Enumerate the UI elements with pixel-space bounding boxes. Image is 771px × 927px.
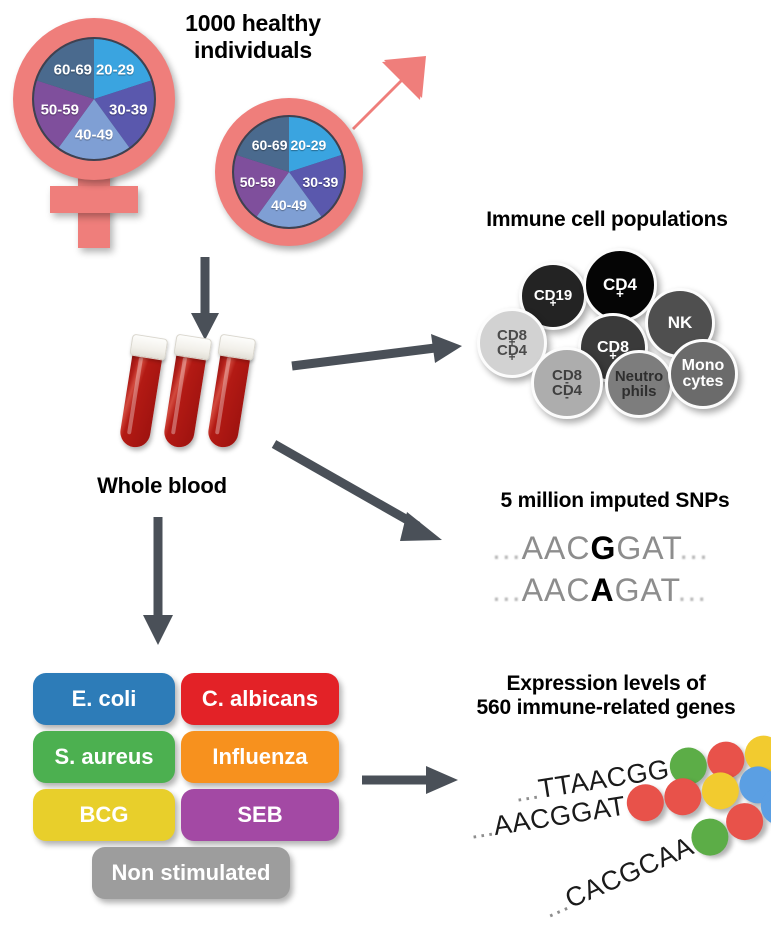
pie-label-50-59: 50-59 <box>240 174 276 190</box>
stimulus-pill-influenza[interactable]: Influenza <box>181 731 339 783</box>
blood-tube <box>206 334 253 449</box>
pie-label-40-49: 40-49 <box>271 197 307 213</box>
arrow-stimuli-to-expression <box>360 760 465 800</box>
stimulus-pill-e-coli[interactable]: E. coli <box>33 673 175 725</box>
stimulus-label: S. aureus <box>54 744 153 770</box>
snp-right-flank: GAT <box>616 530 679 566</box>
snp-prefix: ... <box>492 572 522 608</box>
pie-label-50-59: 50-59 <box>41 102 79 119</box>
stimulus-pill-c-albicans[interactable]: C. albicans <box>181 673 339 725</box>
immune-cell-Neutrophils: Neutrophils <box>605 350 673 418</box>
pie-label-20-29: 20-29 <box>96 61 134 78</box>
immune-cell-label: CD4+ <box>603 276 637 293</box>
stimulus-label: SEB <box>237 802 282 828</box>
pie-label-20-29: 20-29 <box>290 137 326 153</box>
expression-title-line1: Expression levels of <box>446 672 766 696</box>
expression-title: Expression levels of 560 immune-related … <box>446 672 766 721</box>
snp-suffix: ... <box>679 530 709 566</box>
stimulus-pill-non-stimulated[interactable]: Non stimulated <box>92 847 290 899</box>
immune-cell-label: CD8-CD4- <box>552 368 582 399</box>
snp-variant-allele: A <box>590 572 614 608</box>
immune-populations-title: Immune cell populations <box>452 208 762 232</box>
stimulus-label: Non stimulated <box>112 860 271 886</box>
pie-label-30-39: 30-39 <box>109 102 147 119</box>
figure-canvas: 1000 healthy individuals 20-2930-3940-49… <box>0 0 771 922</box>
pie-label-60-69: 60-69 <box>54 61 92 78</box>
immune-cell-label: CD19+ <box>534 288 572 303</box>
immune-cell-label: CD8+CD4+ <box>497 328 527 359</box>
snp-right-flank: GAT <box>615 572 678 608</box>
snp-prefix: ... <box>492 530 522 566</box>
stimulus-pill-seb[interactable]: SEB <box>181 789 339 841</box>
stimulus-pill-s-aureus[interactable]: S. aureus <box>33 731 175 783</box>
blood-tube <box>118 334 165 449</box>
female-crossbar <box>50 186 138 213</box>
gene-bead <box>624 782 666 824</box>
snp-sequence-row: ...AACAGAT... <box>492 572 707 609</box>
immune-cell-CD8CD4: CD8-CD4- <box>531 347 603 419</box>
whole-blood-label: Whole blood <box>77 473 247 499</box>
immune-cell-label: Monocytes <box>682 358 725 391</box>
stimulus-label: C. albicans <box>202 686 318 712</box>
arrow-blood-to-immune <box>290 330 475 380</box>
arrow-blood-to-stimuli <box>133 515 183 650</box>
gene-sequence-text: ...AACGGAT <box>468 791 628 846</box>
pie-label-60-69: 60-69 <box>252 137 288 153</box>
snp-variant-allele: G <box>590 530 616 566</box>
snp-left-flank: AAC <box>522 572 591 608</box>
arrow-blood-to-snp <box>270 440 470 555</box>
expression-title-line2: 560 immune-related genes <box>446 696 766 720</box>
immune-cell-label: Neutrophils <box>615 369 663 400</box>
snp-title: 5 million imputed SNPs <box>465 489 765 513</box>
male-age-pie: 20-2930-3940-4950-5960-69 <box>232 115 346 229</box>
immune-cell-label: NK <box>668 314 693 331</box>
stimulus-label: BCG <box>80 802 129 828</box>
pie-label-40-49: 40-49 <box>75 127 113 144</box>
blood-tube <box>162 334 209 449</box>
female-age-pie: 20-2930-3940-4950-5960-69 <box>32 37 156 161</box>
stimulus-pill-bcg[interactable]: BCG <box>33 789 175 841</box>
snp-left-flank: AAC <box>522 530 591 566</box>
immune-cell-Monocytes: Monocytes <box>668 339 738 409</box>
gene-bead <box>661 776 703 818</box>
gene-sequence-text: ...CACGCAA <box>539 831 699 925</box>
stimulus-label: Influenza <box>212 744 307 770</box>
snp-suffix: ... <box>677 572 707 608</box>
pie-label-30-39: 30-39 <box>302 174 338 190</box>
snp-sequence-row: ...AACGGAT... <box>492 530 709 567</box>
arrow-cohort-to-blood <box>180 255 230 345</box>
stimulus-label: E. coli <box>72 686 137 712</box>
